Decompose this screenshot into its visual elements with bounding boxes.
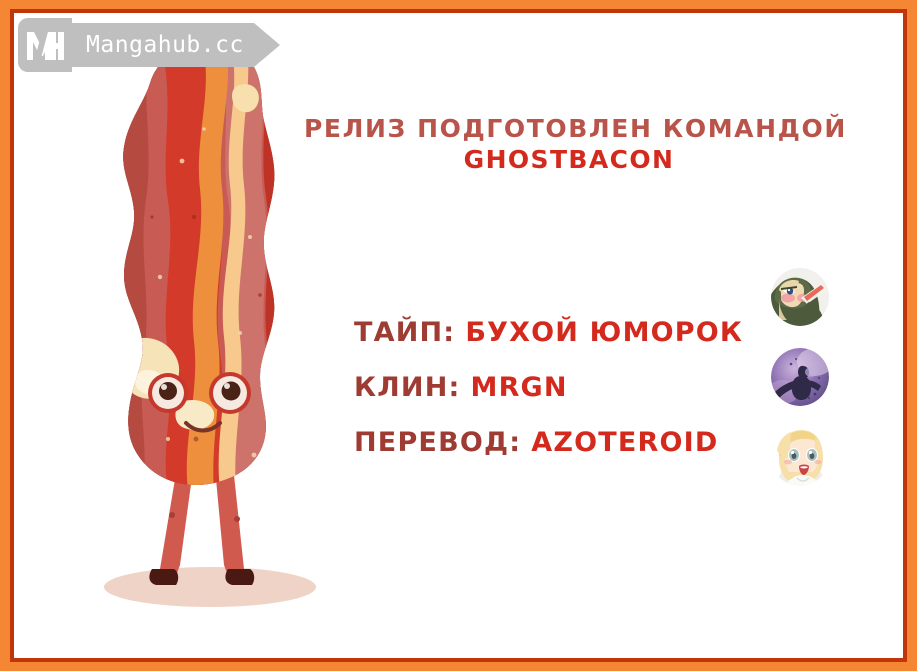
site-name-text: Mangahub.cc xyxy=(86,32,244,58)
headline-line-1: РЕЛИЗ ПОДГОТОВЛЕН КОМАНДОЙ xyxy=(304,113,834,144)
credit-row-cleaner: КЛИН: MRGN xyxy=(354,360,743,415)
credit-value: БУХОЙ ЮМОРОК xyxy=(465,317,743,348)
page-frame: Mangahub.cc РЕЛИЗ ПОДГОТОВЛЕН КОМАНДОЙ G… xyxy=(0,0,917,671)
credit-label: КЛИН: xyxy=(354,372,461,403)
credit-value: MRGN xyxy=(471,372,568,403)
inner-border: Mangahub.cc РЕЛИЗ ПОДГОТОВЛЕН КОМАНДОЙ G… xyxy=(10,9,907,662)
artwork-canvas: Mangahub.cc РЕЛИЗ ПОДГОТОВЛЕН КОМАНДОЙ G… xyxy=(14,13,903,658)
credit-label: ПЕРЕВОД: xyxy=(354,427,521,458)
mascot-body xyxy=(114,41,300,491)
credit-value: AZOTEROID xyxy=(531,427,718,458)
mangahub-logo-icon xyxy=(18,18,72,72)
mascot-shadow xyxy=(104,567,316,607)
credit-row-translator: ПЕРЕВОД: AZOTEROID xyxy=(354,415,743,470)
release-headline: РЕЛИЗ ПОДГОТОВЛЕН КОМАНДОЙ GHOSTBACON xyxy=(304,113,834,176)
avatar-cleaner xyxy=(771,348,829,406)
avatar-typesetter xyxy=(771,268,829,326)
credits-list: ТАЙП: БУХОЙ ЮМОРОК КЛИН: MRGN ПЕРЕВОД: A… xyxy=(354,305,743,470)
avatar-list xyxy=(771,268,829,508)
headline-line-2: GHOSTBACON xyxy=(304,144,834,175)
credit-row-typesetter: ТАЙП: БУХОЙ ЮМОРОК xyxy=(354,305,743,360)
credit-label: ТАЙП: xyxy=(354,317,455,348)
watermark-banner: Mangahub.cc xyxy=(18,18,254,72)
avatar-translator xyxy=(771,428,829,486)
watermark-label-bar: Mangahub.cc xyxy=(70,23,254,67)
